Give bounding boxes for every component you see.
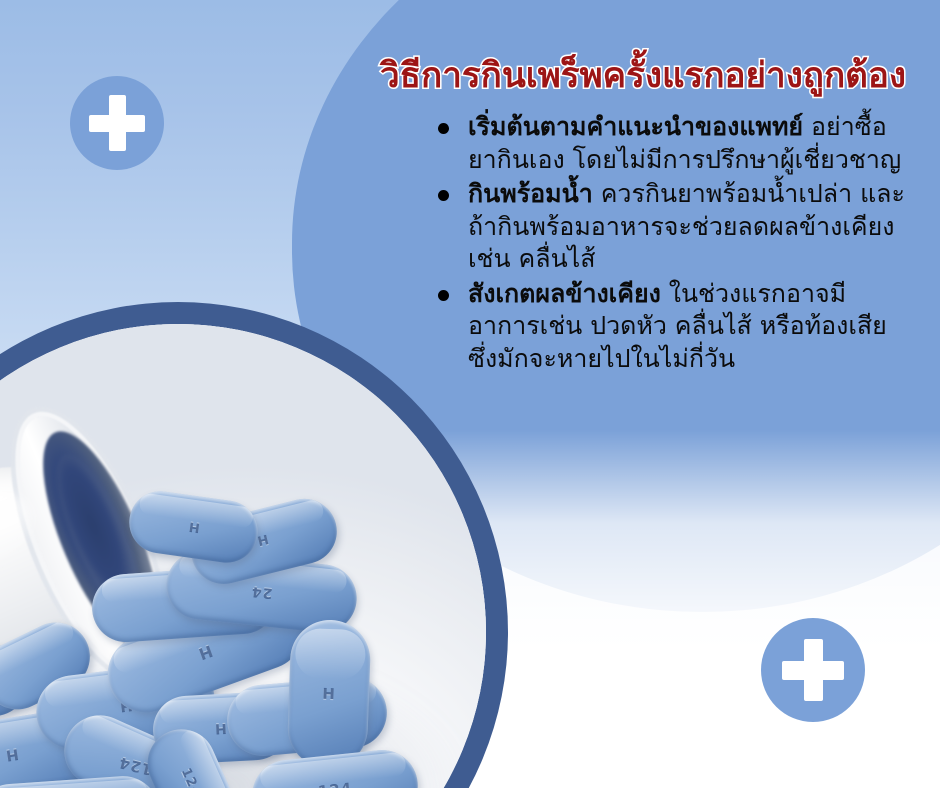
- page-title: วิธีการกินเพร็พครั้งแรกอย่างถูกต้อง: [360, 56, 926, 97]
- pill: H: [286, 618, 371, 769]
- bullet-dot-icon: [438, 290, 449, 301]
- list-item: เริ่มต้นตามคำแนะนำของแพทย์ อย่าซื้อยากิน…: [468, 111, 914, 176]
- list-item-lead: เริ่มต้นตามคำแนะนำของแพทย์: [468, 112, 803, 141]
- list-item: กินพร้อมน้ำ ควรกินยาพร้อมน้ำเปล่า และถ้า…: [468, 178, 914, 276]
- plus-icon: [70, 76, 164, 170]
- plus-icon-vertical-bar: [804, 639, 823, 701]
- tips-list: เริ่มต้นตามคำแนะนำของแพทย์ อย่าซื้อยากิน…: [360, 111, 926, 375]
- bullet-dot-icon: [438, 123, 449, 134]
- list-item: สังเกตผลข้างเคียง ในช่วงแรกอาจมีอาการเช่…: [468, 278, 914, 376]
- list-item-lead: กินพร้อมน้ำ: [468, 179, 593, 208]
- list-item-lead: สังเกตผลข้างเคียง: [468, 279, 661, 308]
- pills-photo: 124 H H H H 24 124 H: [0, 324, 486, 788]
- poster-canvas: 124 H H H H 24 124 H: [0, 0, 940, 788]
- plus-icon: [761, 618, 865, 722]
- photo-artwork: 124 H H H H 24 124 H: [0, 324, 486, 788]
- content-block: วิธีการกินเพร็พครั้งแรกอย่างถูกต้อง เริ่…: [360, 56, 926, 377]
- bullet-dot-icon: [438, 190, 449, 201]
- plus-icon-vertical-bar: [109, 95, 126, 151]
